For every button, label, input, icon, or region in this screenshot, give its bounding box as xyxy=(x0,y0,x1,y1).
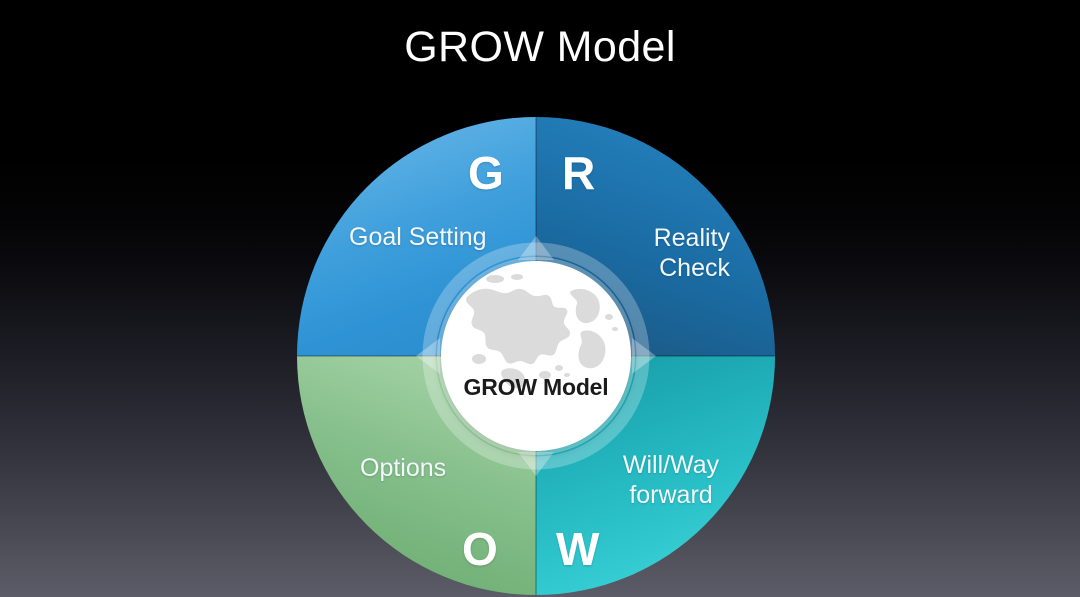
world-map-icon xyxy=(449,271,623,389)
quadrant-letter-g: G xyxy=(468,150,504,196)
quadrant-letter-r: R xyxy=(562,150,595,196)
center-hub[interactable]: GROW Model xyxy=(441,261,631,451)
page-title: GROW Model xyxy=(0,24,1080,71)
quadrant-label-reality-check: Reality Check xyxy=(600,223,730,283)
quadrant-label-goal-setting: Goal Setting xyxy=(349,222,487,252)
center-hub-label: GROW Model xyxy=(441,374,631,401)
slide-canvas: GROW Model xyxy=(0,0,1080,597)
quadrant-letter-w: W xyxy=(556,526,599,572)
quadrant-label-options: Options xyxy=(360,453,446,483)
quadrant-label-will-way-forward: Will/Way forward xyxy=(596,450,746,510)
quadrant-letter-o: O xyxy=(462,526,498,572)
